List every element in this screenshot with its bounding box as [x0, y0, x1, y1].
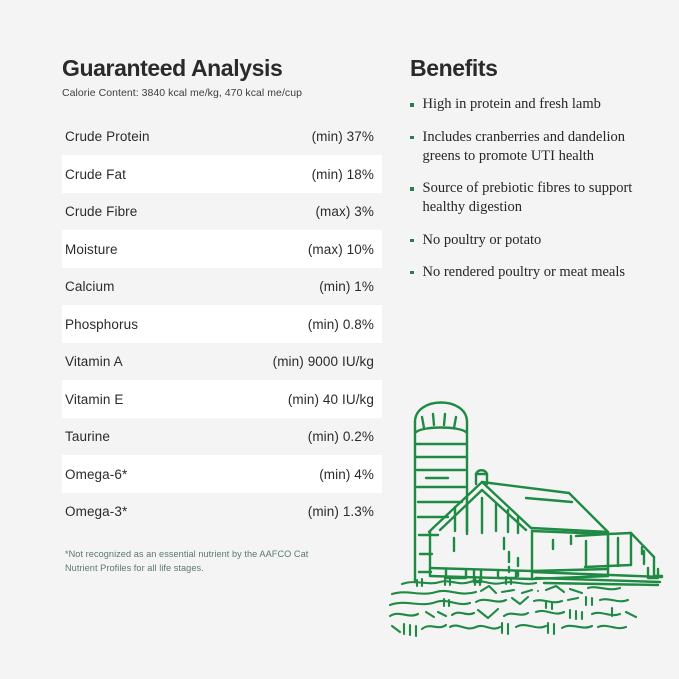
analysis-row-value: (min) 4% — [319, 467, 374, 482]
analysis-row: Moisture(max) 10% — [62, 230, 382, 268]
analysis-row-value: (min) 37% — [312, 129, 374, 144]
analysis-row: Phosphorus(min) 0.8% — [62, 305, 382, 343]
analysis-row-label: Vitamin E — [65, 392, 123, 407]
analysis-row: Crude Protein(min) 37% — [62, 118, 382, 156]
analysis-row-label: Omega-6* — [65, 467, 127, 482]
analysis-row-label: Omega-3* — [65, 504, 127, 519]
benefit-item: Includes cranberries and dandelion green… — [410, 128, 650, 167]
analysis-row-value: (min) 40 IU/kg — [288, 392, 374, 407]
benefit-item-text: Includes cranberries and dandelion green… — [423, 128, 638, 167]
benefits-title: Benefits — [410, 56, 650, 81]
bullet-icon — [410, 103, 414, 107]
benefit-item: High in protein and fresh lamb — [410, 95, 650, 114]
benefit-item-text: No poultry or potato — [423, 231, 542, 250]
guaranteed-analysis-section: Guaranteed Analysis Calorie Content: 384… — [62, 56, 384, 584]
benefit-item-text: Source of prebiotic fibres to support he… — [423, 179, 638, 218]
benefit-item-text: No rendered poultry or meat meals — [423, 263, 626, 282]
analysis-row: Vitamin A(min) 9000 IU/kg — [62, 343, 382, 381]
analysis-row-label: Moisture — [65, 242, 118, 257]
analysis-row: Vitamin E(min) 40 IU/kg — [62, 380, 382, 418]
benefit-item: No rendered poultry or meat meals — [410, 263, 650, 282]
analysis-row-value: (min) 9000 IU/kg — [273, 354, 374, 369]
bullet-icon — [410, 239, 414, 243]
analysis-row-label: Crude Protein — [65, 129, 150, 144]
analysis-row: Crude Fat(min) 18% — [62, 155, 382, 193]
barn-illustration — [386, 386, 671, 646]
analysis-row-label: Calcium — [65, 279, 114, 294]
analysis-row-value: (min) 1.3% — [308, 504, 374, 519]
benefits-list: High in protein and fresh lambIncludes c… — [410, 95, 650, 282]
analysis-row: Omega-3*(min) 1.3% — [62, 493, 382, 531]
bullet-icon — [410, 187, 414, 191]
benefit-item: Source of prebiotic fibres to support he… — [410, 179, 650, 218]
silo-icon — [415, 403, 467, 583]
analysis-row-label: Taurine — [65, 429, 110, 444]
analysis-row-label: Phosphorus — [65, 317, 138, 332]
bullet-icon — [410, 136, 414, 140]
benefit-item: No poultry or potato — [410, 231, 650, 250]
product-info-panel: Guaranteed Analysis Calorie Content: 384… — [0, 0, 679, 679]
analysis-row-value: (min) 1% — [319, 279, 374, 294]
analysis-row: Crude Fibre(max) 3% — [62, 193, 382, 231]
analysis-row-value: (max) 3% — [315, 204, 374, 219]
shed-icon — [576, 533, 662, 578]
calorie-content-text: Calorie Content: 3840 kcal me/kg, 470 kc… — [62, 87, 384, 100]
analysis-row-label: Crude Fat — [65, 167, 126, 182]
analysis-row-value: (min) 18% — [312, 167, 374, 182]
analysis-row-value: (min) 0.2% — [308, 429, 374, 444]
guaranteed-analysis-footnote: *Not recognized as an essential nutrient… — [65, 548, 315, 575]
guaranteed-analysis-title: Guaranteed Analysis — [62, 56, 384, 81]
bullet-icon — [410, 271, 414, 275]
analysis-row-value: (min) 0.8% — [308, 317, 374, 332]
benefit-item-text: High in protein and fresh lamb — [423, 95, 601, 114]
ground-lines — [532, 572, 662, 585]
analysis-row: Taurine(min) 0.2% — [62, 418, 382, 456]
analysis-row-label: Vitamin A — [65, 354, 123, 369]
grass-scribbles — [390, 577, 636, 636]
benefits-section: Benefits High in protein and fresh lambI… — [410, 56, 650, 295]
analysis-row-label: Crude Fibre — [65, 204, 137, 219]
guaranteed-analysis-table: Crude Protein(min) 37%Crude Fat(min) 18%… — [62, 118, 382, 531]
analysis-row: Omega-6*(min) 4% — [62, 455, 382, 493]
analysis-row: Calcium(min) 1% — [62, 268, 382, 306]
analysis-row-value: (max) 10% — [308, 242, 374, 257]
